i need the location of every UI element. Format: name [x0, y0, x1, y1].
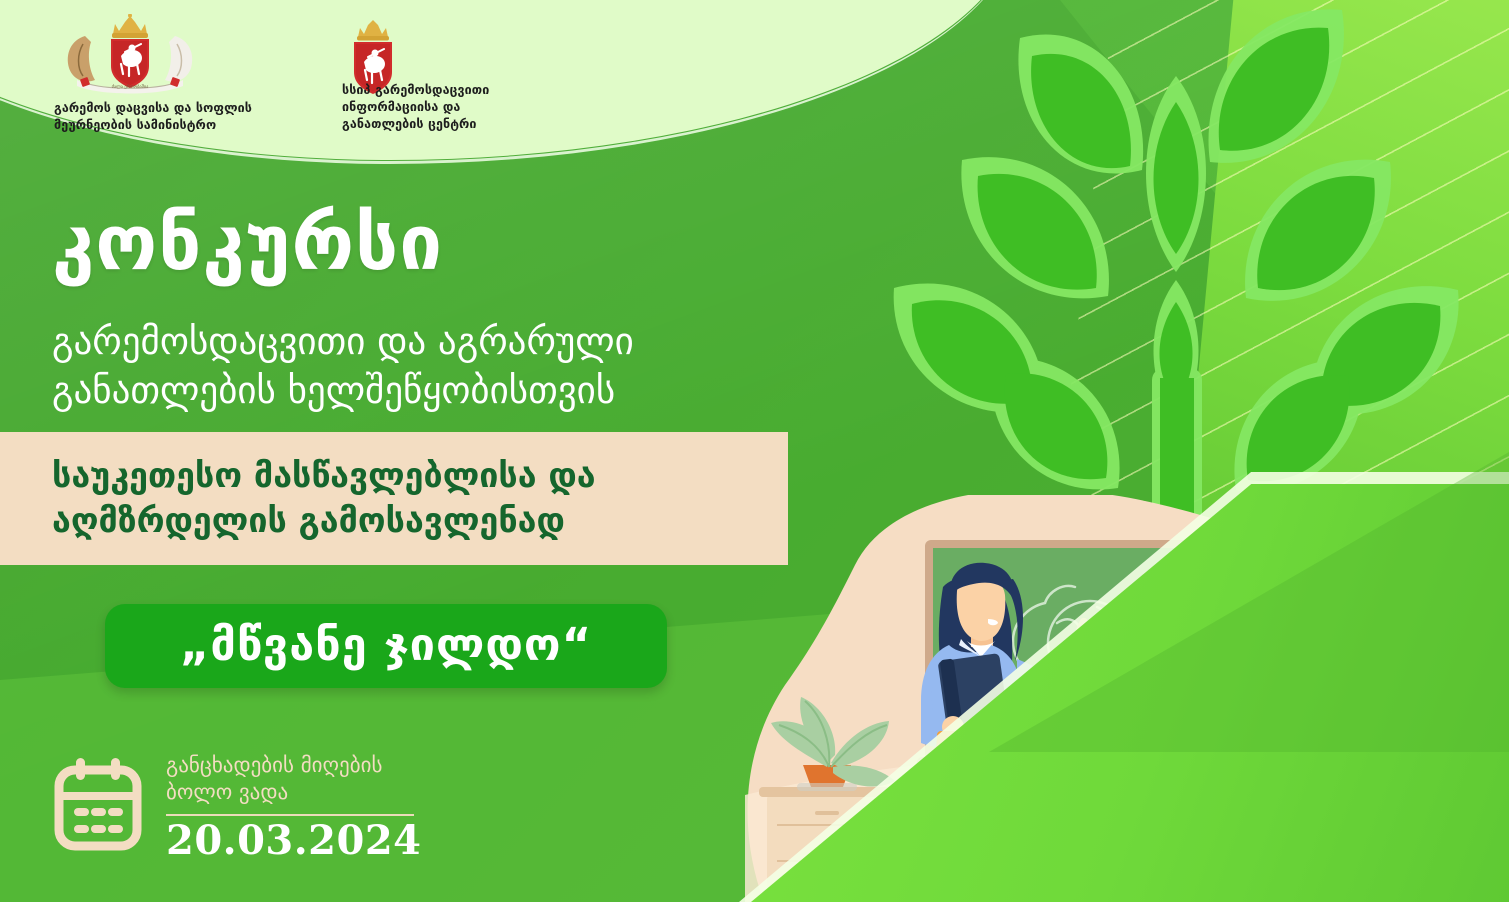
award-name-badge: „მწვანე ჯილდო“: [105, 604, 667, 688]
award-name-text: „მწვანე ჯილდო“: [180, 622, 592, 671]
deadline-divider: [166, 814, 414, 816]
highlight-band: საუკეთესო მასწავლებლისა და აღმზრდელის გა…: [0, 432, 788, 565]
page-title: კონკურსი: [52, 205, 443, 281]
calendar-icon: [52, 756, 144, 854]
deadline-block: განცხადების მიღების ბოლო ვადა 20.03.2024: [52, 748, 422, 861]
page-subtitle: გარემოსდაცვითი და აგრარული განათლების ხე…: [52, 318, 772, 416]
deadline-text-block: განცხადების მიღების ბოლო ვადა 20.03.2024: [166, 748, 422, 861]
poster-canvas: ძალა ერთობაშია გარემოს დაცვისა და სოფლის…: [0, 0, 1509, 902]
deadline-date: 20.03.2024: [166, 821, 422, 861]
deadline-label: განცხადების მიღების ბოლო ვადა: [166, 752, 422, 806]
highlight-text: საუკეთესო მასწავლებლისა და აღმზრდელის გა…: [0, 454, 788, 544]
